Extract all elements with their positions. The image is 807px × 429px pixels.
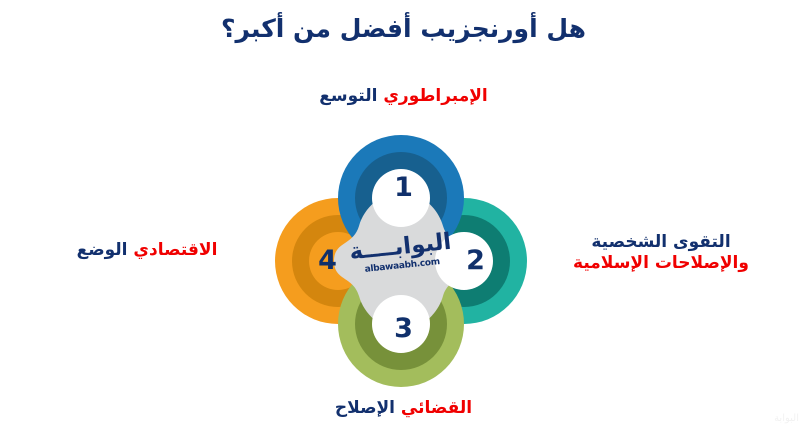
label-petal-3-navy: الإصلاح: [335, 398, 395, 418]
petal-3-badge[interactable]: [372, 295, 430, 353]
label-petal-2: التقوى الشخصية والإصلاحات الإسلامية: [556, 232, 766, 275]
label-petal-4-red: الاقتصادي: [133, 240, 217, 260]
page-title: هل أورنجزيب أفضل من أكبر؟: [0, 14, 807, 43]
label-petal-4: الاقتصادي الوضع: [42, 240, 252, 261]
label-petal-4-navy: الوضع: [77, 240, 128, 260]
label-petal-1-navy: التوسع: [319, 86, 377, 106]
four-petal-diagram: [253, 128, 549, 394]
label-petal-1-red: الإمبراطوري: [383, 86, 487, 106]
label-petal-2-navy: التقوى الشخصية: [556, 232, 766, 253]
corner-watermark: البوابة: [774, 413, 799, 424]
label-petal-2-red: والإصلاحات الإسلامية: [556, 253, 766, 274]
petal-1-badge[interactable]: [372, 169, 430, 227]
label-petal-1: الإمبراطوري التوسع: [0, 86, 807, 107]
label-petal-3: القضائي الإصلاح: [0, 398, 807, 419]
diagram-svg: [253, 128, 549, 394]
petal-2-badge[interactable]: [435, 232, 493, 290]
label-petal-3-red: القضائي: [401, 398, 472, 418]
